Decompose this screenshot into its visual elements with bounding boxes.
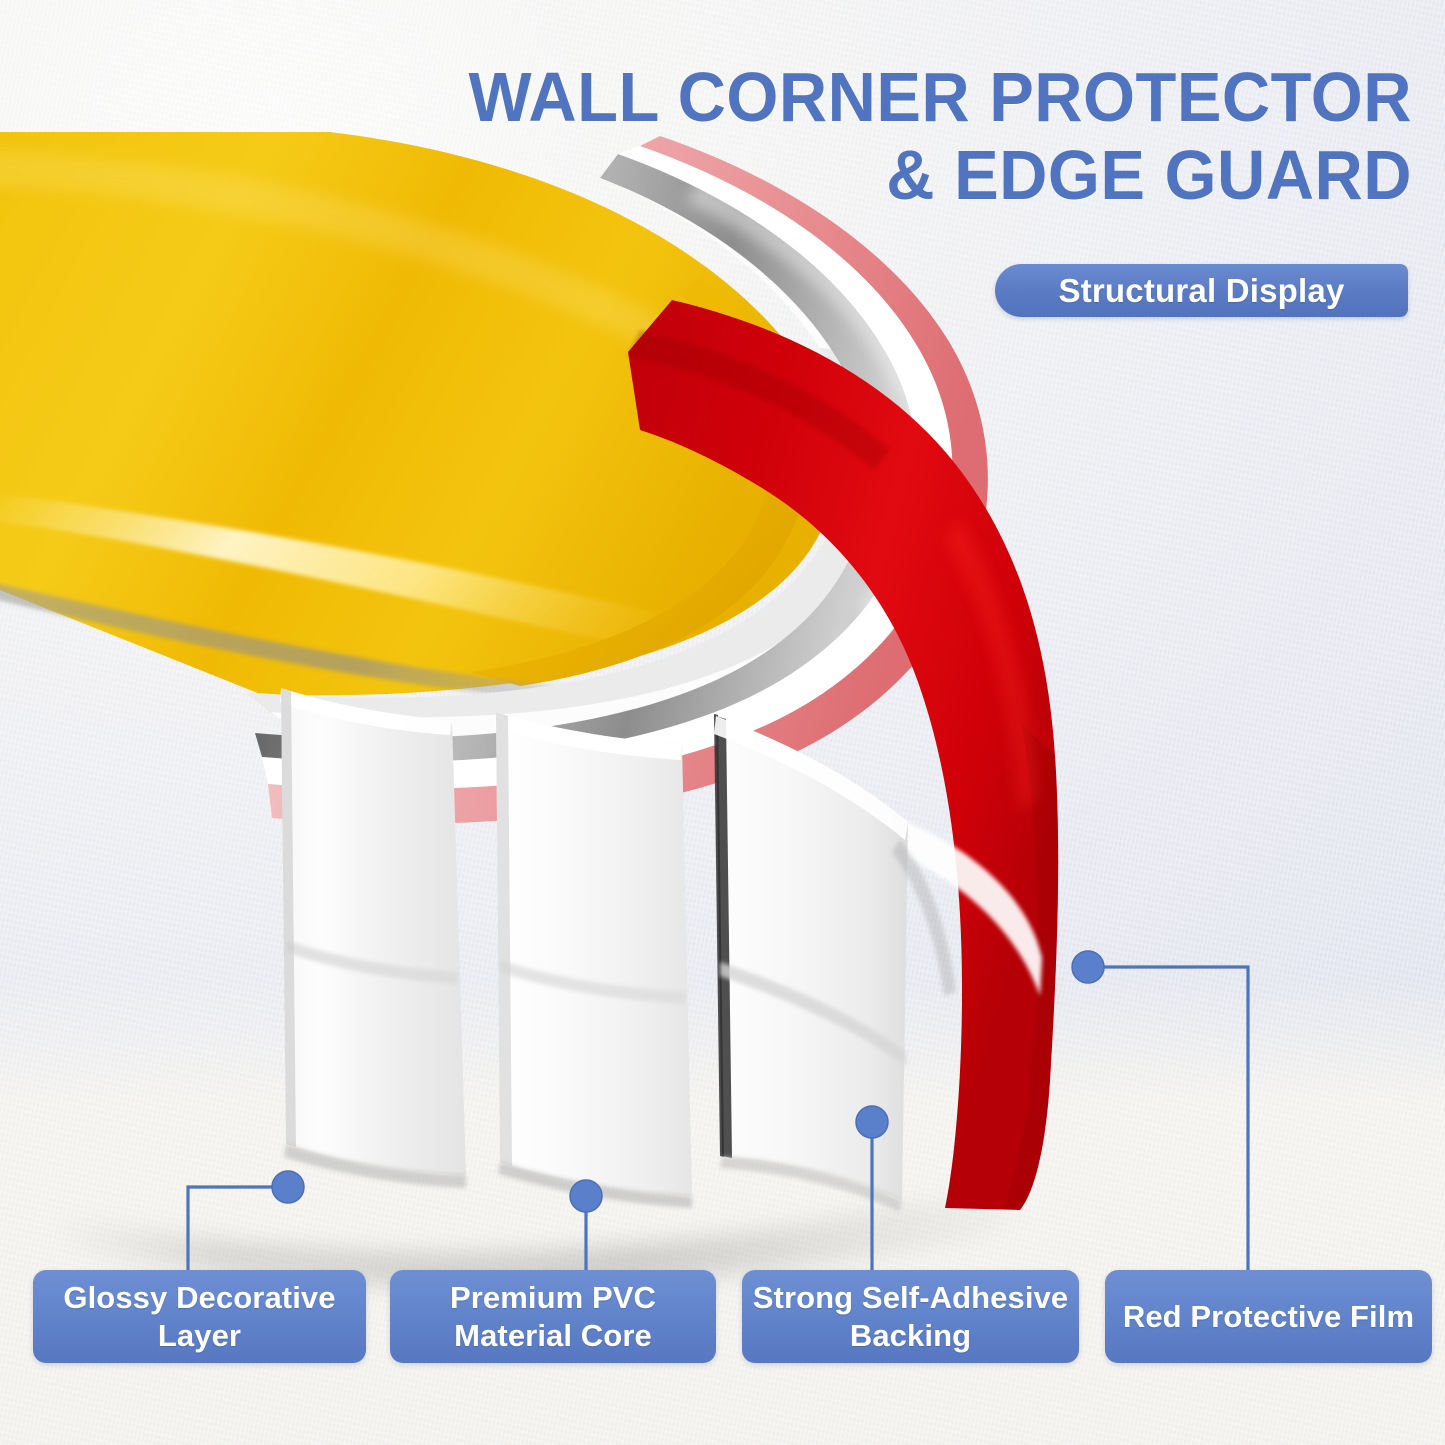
callout-label-text-2: Premium PVC Material Core [400,1279,706,1355]
infographic-canvas: WALL CORNER PROTECTOR & EDGE GUARD Struc… [0,0,1445,1445]
callout-leader-lines [0,0,1445,1445]
callout-label-strong-self-adhesive-backing: Strong Self-Adhesive Backing [742,1270,1079,1363]
callout-dot-2 [570,1180,602,1212]
callout-dot-4 [1072,951,1104,983]
callout-dot-3 [856,1106,888,1138]
leader-line-1 [188,1187,288,1270]
page-title-line-1: WALL CORNER PROTECTOR [235,58,1412,136]
page-title-line-2: & EDGE GUARD [235,136,1412,214]
callout-label-glossy-decorative-layer: Glossy Decorative Layer [33,1270,366,1363]
callout-label-text-1: Glossy Decorative Layer [43,1279,356,1355]
callout-label-text-3: Strong Self-Adhesive Backing [752,1279,1069,1355]
callout-label-text-4: Red Protective Film [1123,1298,1414,1336]
callout-label-red-protective-film: Red Protective Film [1105,1270,1432,1363]
leader-line-4 [1088,967,1248,1270]
callout-label-premium-pvc-material-core: Premium PVC Material Core [390,1270,716,1363]
callout-dot-1 [272,1171,304,1203]
structural-display-badge: Structural Display [995,264,1408,317]
page-title: WALL CORNER PROTECTOR & EDGE GUARD [180,58,1412,214]
structural-display-badge-label: Structural Display [1058,274,1344,307]
